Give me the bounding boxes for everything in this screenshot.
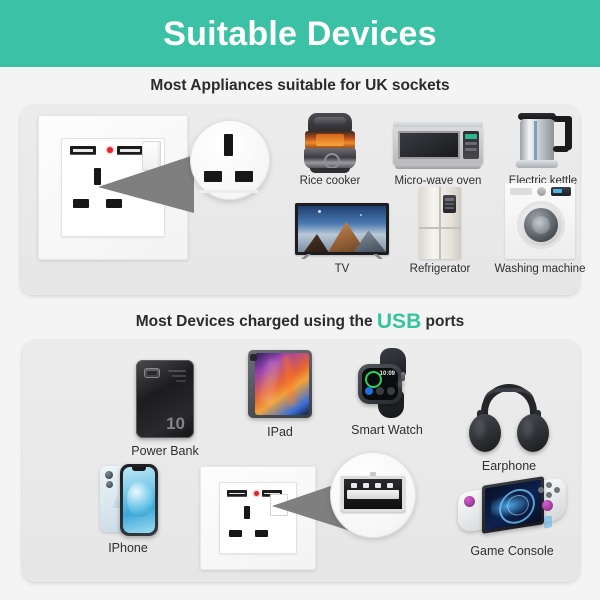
heading-highlight-usb: USB (377, 310, 421, 333)
device-tile-power-bank: 10 Power Bank (100, 360, 230, 459)
usb-port-magnifier (330, 452, 416, 538)
power-bank-capacity-badge: 10 (166, 415, 185, 432)
device-tile-washing-machine: Washing machine (488, 183, 592, 276)
device-label: IPad (230, 426, 330, 440)
usb-port-left (70, 146, 96, 155)
device-label: TV (292, 263, 392, 276)
uk-outlet-magnifier (190, 120, 270, 200)
watch-time-badge: 10:09 (380, 371, 395, 377)
device-label: Washing machine (488, 263, 592, 276)
device-label: Micro-wave oven (382, 175, 494, 188)
rice-cooker-icon (302, 111, 358, 173)
electric-kettle-icon (510, 107, 576, 173)
device-tile-earphone: Earphone (454, 384, 564, 474)
microwave-oven-icon (393, 111, 483, 173)
device-tile-electric-kettle: Electric kettle (498, 107, 588, 188)
page-title: Suitable Devices (163, 17, 436, 51)
smart-watch-icon: 10:09 (350, 346, 424, 420)
device-tile-rice-cooker: Rice cooker (290, 111, 370, 188)
tv-icon (295, 203, 389, 261)
power-bank-icon: 10 (136, 360, 194, 440)
device-label: Refrigerator (402, 263, 478, 276)
panel-usb-devices: 10 Power Bank IPad (22, 340, 580, 582)
device-label: Earphone (454, 460, 564, 474)
device-tile-ipad: IPad (230, 348, 330, 440)
device-tile-game-console: Game Console (442, 474, 582, 559)
device-tile-tv: TV (292, 203, 392, 276)
iphone-icon (94, 462, 162, 538)
earphone-icon (467, 384, 551, 456)
device-tile-microwave-oven: Micro-wave oven (382, 111, 494, 188)
section-heading-uk-sockets: Most Appliances suitable for UK sockets (0, 77, 600, 95)
ipad-icon (244, 348, 316, 422)
washing-machine-icon (505, 183, 575, 261)
device-tile-iphone: IPhone (80, 462, 176, 556)
device-label: Power Bank (100, 445, 230, 459)
heading-text-after: ports (426, 313, 465, 330)
panel-uk-sockets: Rice cooker Micro-wave oven (20, 105, 580, 295)
section-heading-usb-devices: Most Devices charged using the USB ports (0, 310, 600, 334)
power-led-indicator (254, 491, 259, 496)
heading-text-before: Most Devices charged using the (136, 313, 373, 330)
game-console-icon (456, 474, 568, 540)
usb-port-left (227, 490, 247, 497)
device-label: Smart Watch (332, 424, 442, 438)
refrigerator-icon (419, 187, 461, 261)
device-label: IPhone (80, 542, 176, 556)
device-tile-refrigerator: Refrigerator (402, 187, 478, 276)
infographic-page: Suitable Devices Most Appliances suitabl… (0, 0, 600, 600)
device-label: Rice cooker (290, 175, 370, 188)
device-label: Game Console (442, 545, 582, 559)
header-banner: Suitable Devices (0, 0, 600, 67)
device-tile-smart-watch: 10:09 Smart Watch (332, 346, 442, 438)
